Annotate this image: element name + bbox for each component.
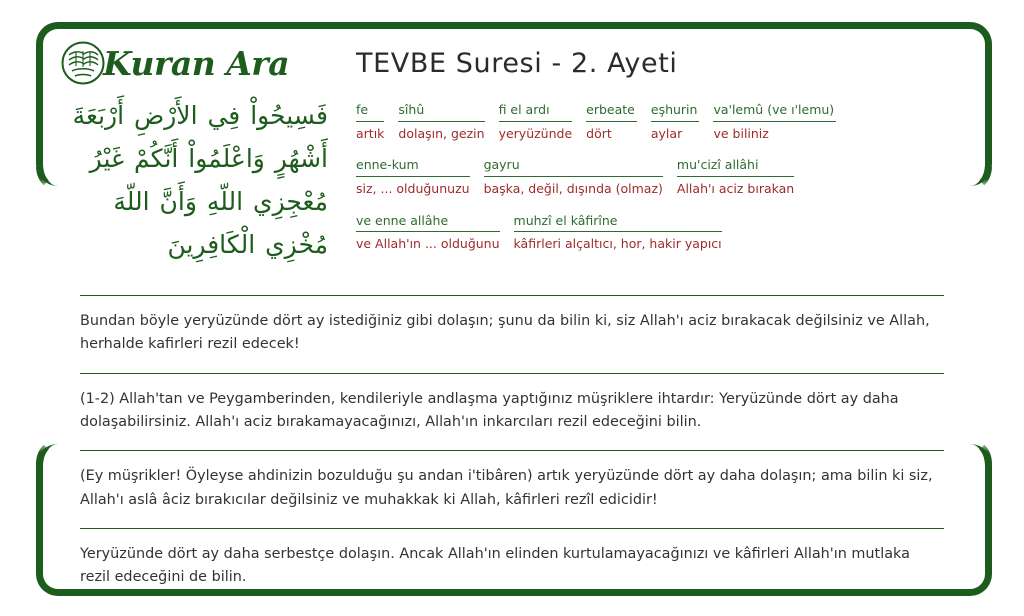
translations-section: Bundan böyle yeryüzünde dört ay istediği… [80,295,944,606]
translation-divider [80,295,944,296]
word-cell[interactable]: fe artık [356,102,384,141]
translation-text: Bundan böyle yeryüzünde dört ay istediği… [80,310,944,357]
translation-text: (1-2) Allah'tan ve Peygamberinden, kendi… [80,388,944,435]
word-meaning: siz, ... olduğunuzu [356,177,470,197]
word-meaning: yeryüzünde [499,122,573,142]
word-cell[interactable]: mu'cizî allâhi Allah'ı aciz bırakan [677,157,794,196]
word-row: enne-kum siz, ... olduğunuzu gayru başka… [356,157,970,196]
translation-divider [80,373,944,374]
word-transliteration: eşhurin [651,102,700,122]
word-transliteration: sîhû [398,102,484,122]
word-cell[interactable]: gayru başka, değil, dışında (olmaz) [484,157,663,196]
word-transliteration: mu'cizî allâhi [677,157,794,177]
word-cell[interactable]: sîhû dolaşın, gezin [398,102,484,141]
word-meaning: dört [586,122,637,142]
translation-divider [80,528,944,529]
header-row: Kuran Ara TEVBE Suresi - 2. Ayeti [60,30,970,86]
translation-text: Yeryüzünde dört ay daha serbestçe dolaşı… [80,543,944,590]
word-transliteration: muhzî el kâfirîne [514,213,722,233]
word-meaning: kâfirleri alçaltıcı, hor, hakir yapıcı [514,232,722,252]
word-row: ve enne allâhe ve Allah'ın ... olduğunu … [356,213,970,252]
word-transliteration: erbeate [586,102,637,122]
site-logo-text: Kuran Ara [103,44,289,83]
word-transliteration: gayru [484,157,663,177]
word-cell[interactable]: ve enne allâhe ve Allah'ın ... olduğunu [356,213,500,252]
word-cell[interactable]: fi el ardı yeryüzünde [499,102,573,141]
word-meaning: dolaşın, gezin [398,122,484,142]
word-meaning: ve Allah'ın ... olduğunu [356,232,500,252]
word-cell[interactable]: enne-kum siz, ... olduğunuzu [356,157,470,196]
word-meaning: artık [356,122,384,142]
word-meaning: ve biliniz [713,122,836,142]
word-cell[interactable]: erbeate dört [586,102,637,141]
arabic-verse-column: فَسِيحُواْ فِي الأَرْضِ أَرْبَعَةَ أَشْه… [60,92,328,266]
word-meaning: aylar [651,122,700,142]
word-transliteration: va'lemû (ve ı'lemu) [713,102,836,122]
verse-body-row: فَسِيحُواْ فِي الأَرْضِ أَرْبَعَةَ أَشْه… [60,92,970,268]
verse-header-section: Kuran Ara TEVBE Suresi - 2. Ayeti فَسِيح… [60,30,970,268]
translation-text: (Ey müşrikler! Öyleyse ahdinizin bozuldu… [80,465,944,512]
page-content: Kuran Ara TEVBE Suresi - 2. Ayeti فَسِيح… [0,0,1024,616]
word-meaning: başka, değil, dışında (olmaz) [484,177,663,197]
site-logo[interactable]: Kuran Ara [60,30,328,86]
translation-divider [80,450,944,451]
word-transliteration: ve enne allâhe [356,213,500,233]
quran-emblem-icon [60,40,106,86]
word-transliteration: fe [356,102,384,122]
word-cell[interactable]: eşhurin aylar [651,102,700,141]
title-column: TEVBE Suresi - 2. Ayeti [328,30,970,79]
word-meaning: Allah'ı aciz bırakan [677,177,794,197]
word-row: fe artık sîhû dolaşın, gezin fi el ardı … [356,102,970,141]
word-cell[interactable]: va'lemû (ve ı'lemu) ve biliniz [713,102,836,141]
word-transliteration: enne-kum [356,157,470,177]
arabic-verse-text: فَسِيحُواْ فِي الأَرْضِ أَرْبَعَةَ أَشْه… [60,94,328,266]
word-by-word-table: fe artık sîhû dolaşın, gezin fi el ardı … [328,92,970,268]
word-cell[interactable]: muhzî el kâfirîne kâfirleri alçaltıcı, h… [514,213,722,252]
page-title: TEVBE Suresi - 2. Ayeti [356,48,970,79]
word-transliteration: fi el ardı [499,102,573,122]
